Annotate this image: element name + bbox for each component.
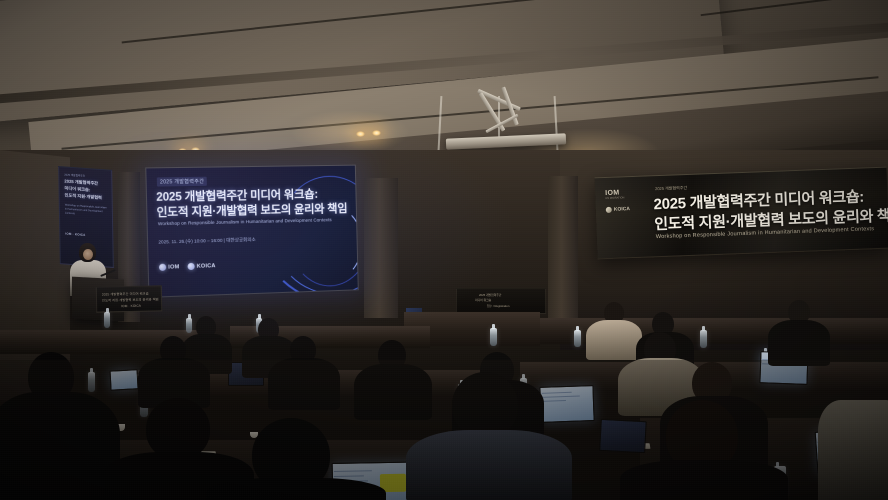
side-banner-logos: IOM · KOICA [65,232,85,237]
floor-shadow [0,360,888,500]
slide-logo-row: IOM KOICA [159,262,216,271]
slide-date-venue: 2025. 11. 26.(수) 10:00 – 16:00 | 대한상공회의소 [158,237,255,246]
backdrop-koica-logo: KOICA [606,206,630,213]
attendee-body [586,320,642,360]
koica-mark-icon [606,207,612,213]
water-bottle [490,328,497,346]
wall-column [548,176,578,326]
backdrop-eyebrow: 2025 개발협력주간 [655,185,687,192]
ceiling-downlight [356,131,365,137]
side-banner-eyebrow: 2025 개발협력주간 [64,172,85,177]
conference-room-photo: 2025 개발협력주간 2025 개발협력주간 미디어 워크숍: 인도적 지원·… [0,0,888,500]
ceiling-seam [701,0,888,16]
ceiling-downlight [372,130,381,136]
water-bottle [700,330,707,348]
staff-sign-line-1: 2025 개발협력주간 [479,293,501,297]
backdrop-iom-logo: IOM UN MIGRATION [605,189,629,200]
projector-mount-plate [446,133,566,149]
water-bottle [186,318,192,333]
projection-screen: 2025 개발협력주간 2025 개발협력주간 미디어 워크숍: 인도적 지원·… [145,165,359,298]
side-banner-title-line-3: 인도적 지원·개발협력 [65,192,102,201]
backdrop-logo-group: IOM UN MIGRATION KOICA [605,189,630,213]
speaker-face [83,249,93,260]
slide-eyebrow: 2025 개발협력주간 [157,177,208,187]
podium-sign-line-3: IOM · KOICA [121,304,141,309]
backdrop-banner: IOM UN MIGRATION KOICA 2025 개발협력주간 2025 … [595,167,888,260]
koica-logo: KOICA [188,262,216,270]
water-bottle [104,312,110,328]
backdrop-koica-text: KOICA [614,206,630,213]
staff-sign: 2025 개발협력주간 미디어 워크숍 접수 / Registration [456,288,546,314]
iom-globe-icon [159,264,166,271]
koica-logo-text: KOICA [197,263,216,270]
wall-column [364,178,398,318]
koica-mark-icon [188,263,195,270]
iom-logo-text: IOM [168,264,179,270]
presentation-slide: 2025 개발협력주간 2025 개발협력주간 미디어 워크숍: 인도적 지원·… [146,166,358,297]
staff-sign-line-2: 미디어 워크숍 [475,298,491,302]
staff-sign-line-3: 접수 / Registration [487,304,509,308]
water-bottle [574,330,581,347]
side-banner-subtitle: Workshop on Responsible Journalism in Hu… [65,204,109,218]
podium-sign-line-1: 2025 개발협력주간 미디어 워크숍 [102,292,149,298]
backdrop-iom-tagline: UN MIGRATION [605,196,629,200]
podium-sign-line-2: 인도적 지원·개발협력 보도의 윤리와 책임 [102,297,159,303]
iom-logo: IOM [159,263,180,271]
